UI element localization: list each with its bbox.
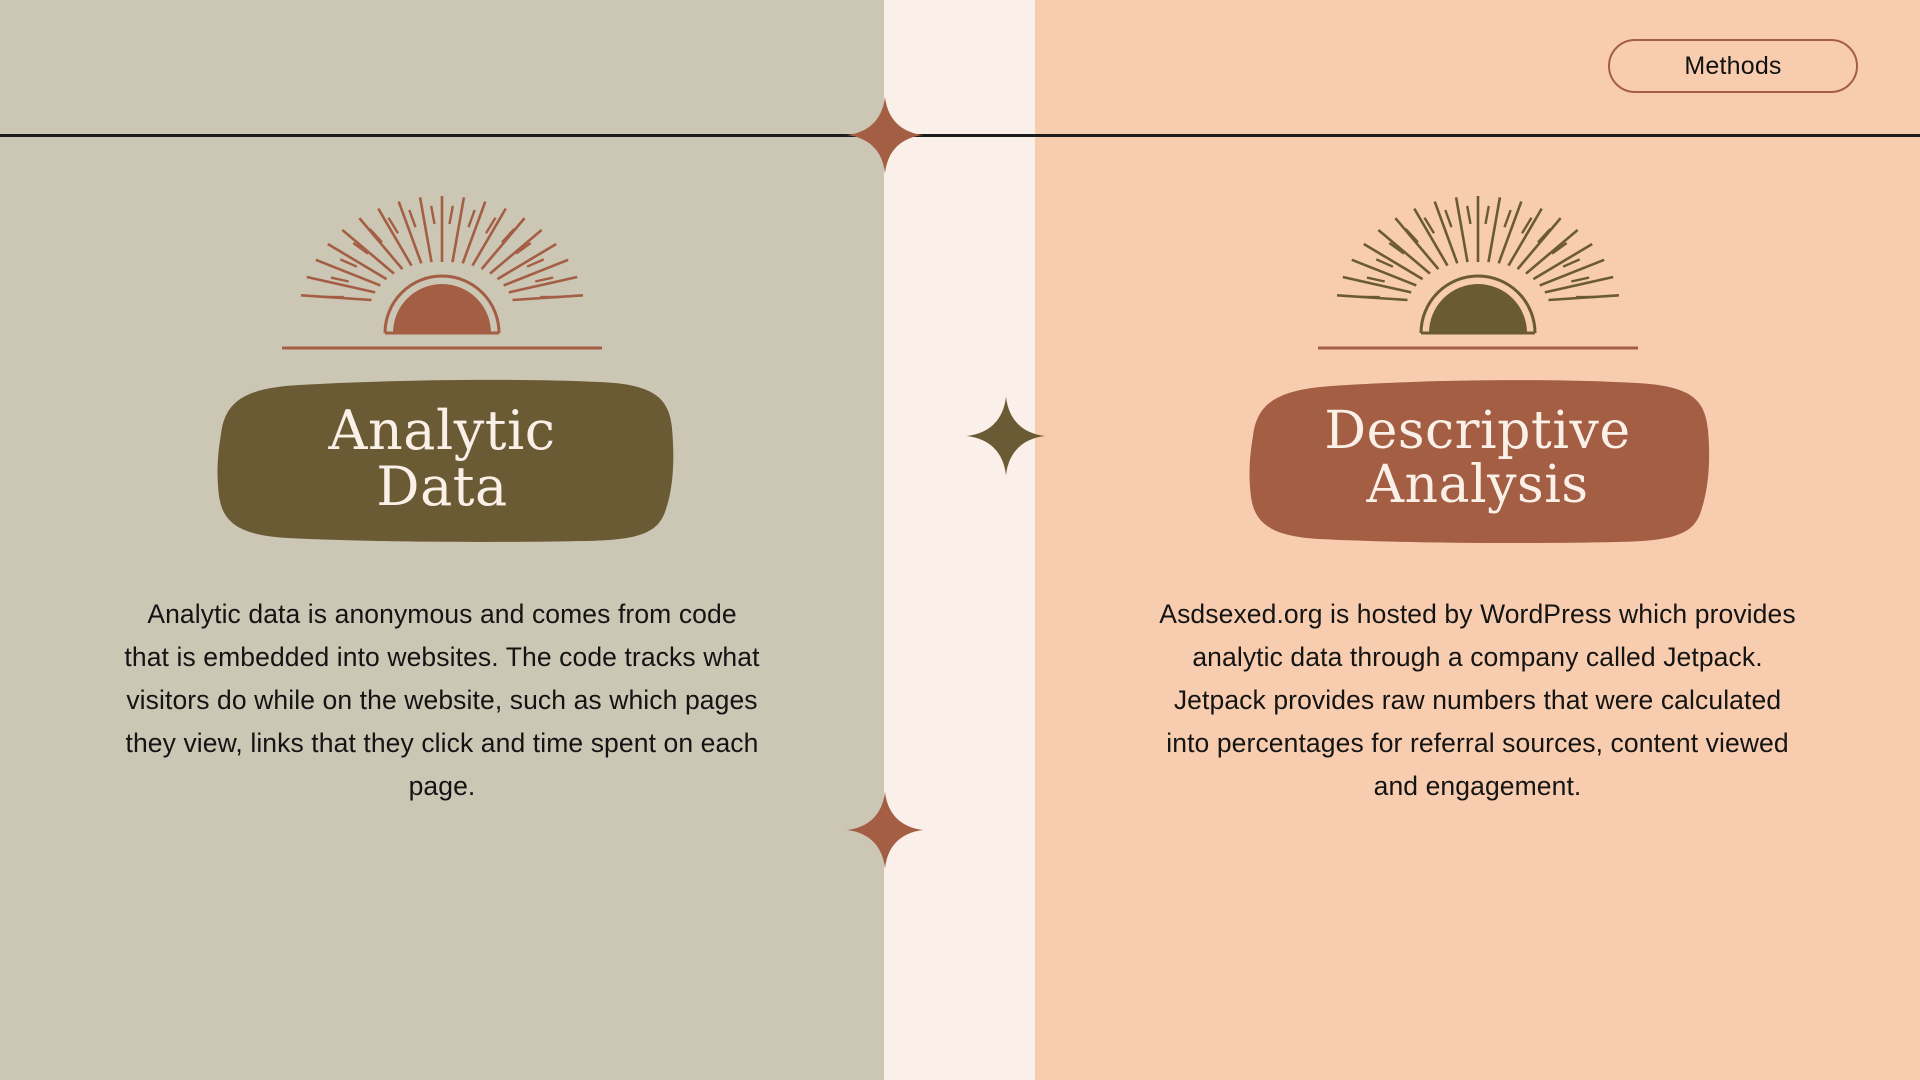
right-panel: Descriptive Analysis Asdsexed.org is hos… (1035, 134, 1920, 1080)
slide-canvas: Methods (0, 0, 1920, 1080)
methods-badge-label: Methods (1684, 52, 1781, 81)
right-title-text: Descriptive Analysis (1324, 405, 1630, 515)
right-body-paragraph: Asdsexed.org is hosted by WordPress whic… (1158, 593, 1798, 808)
sunburst-icon-left (262, 166, 622, 366)
middle-strip-background (884, 0, 1035, 1080)
methods-badge[interactable]: Methods (1608, 39, 1858, 93)
right-title-blob: Descriptive Analysis (1243, 378, 1713, 543)
left-title-blob: Analytic Data (207, 378, 677, 543)
left-body-paragraph: Analytic data is anonymous and comes fro… (122, 593, 762, 808)
left-title-text: Analytic Data (329, 403, 556, 517)
sunburst-icon-right (1298, 166, 1658, 366)
left-panel: Analytic Data Analytic data is anonymous… (0, 134, 884, 1080)
